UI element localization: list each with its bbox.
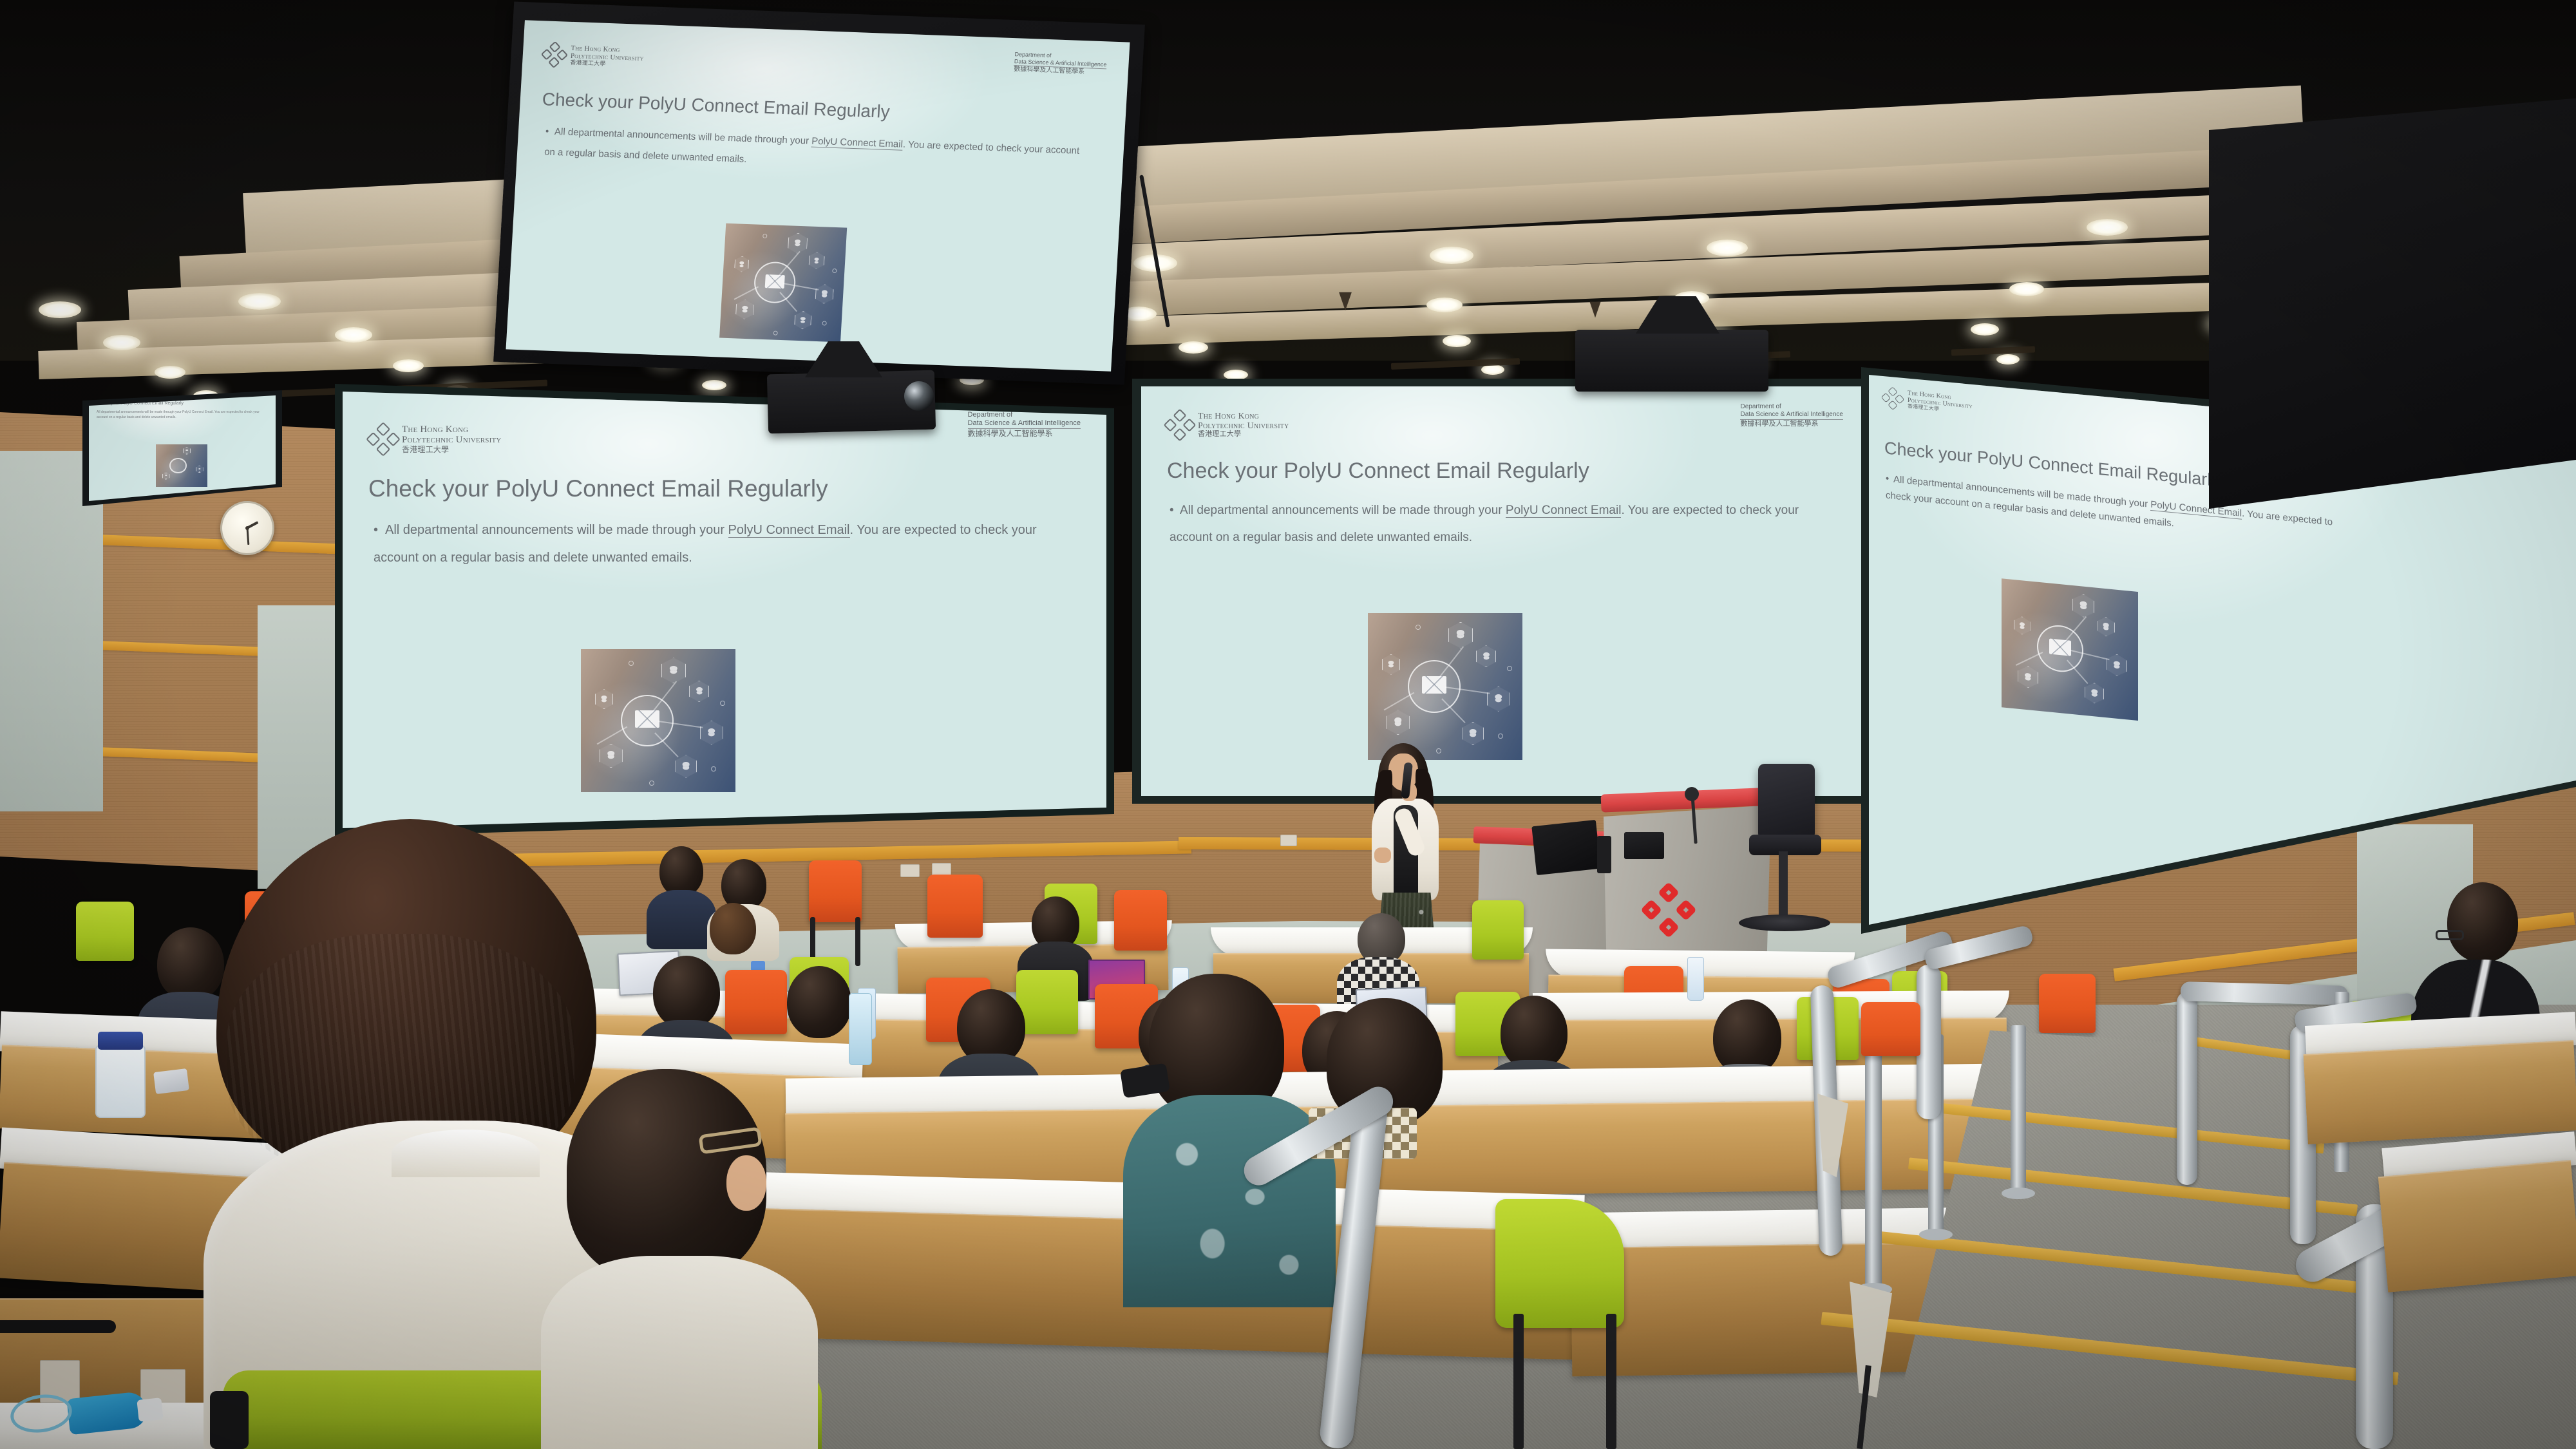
chair-leg [855, 917, 860, 966]
chair-orange[interactable] [927, 875, 983, 938]
chair-leg [1606, 1314, 1616, 1449]
handrail-gate[interactable] [2177, 992, 2197, 1185]
corner-dark-panel [2209, 97, 2576, 509]
bullet-link: PolyU Connect Email [811, 136, 904, 151]
wall-clock [220, 501, 274, 555]
polyu-logo-line3: 香港理工大學 [1198, 431, 1289, 439]
department-logo: Department of Data Science & Artificial … [1740, 403, 1843, 428]
water-bottle[interactable] [1687, 957, 1704, 1001]
email-network-graphic [719, 223, 847, 343]
audience-glasses [2436, 930, 2464, 940]
downlight [1430, 247, 1473, 264]
chair-green[interactable] [1495, 1199, 1624, 1328]
bullet-pre: All departmental announcements will be m… [554, 126, 812, 147]
downlight [335, 327, 372, 343]
polyu-logo-line2: Polytechnic University [402, 435, 502, 446]
overhead-tv-display: The Hong Kong Polytechnic University 香港理… [506, 20, 1130, 372]
lecture-hall-scene: The Hong Kong Polytechnic University 香港理… [0, 0, 2576, 1449]
handrail-foot [2002, 1188, 2035, 1199]
ceiling-speaker-cone [1589, 302, 1600, 318]
lectern-monitor [1531, 820, 1600, 875]
water-bottle[interactable] [95, 1045, 146, 1118]
audience-head [787, 966, 851, 1038]
downlight [1996, 354, 2020, 365]
email-network-graphic [1368, 613, 1522, 760]
left-projection-screen: The Hong Kong Polytechnic University 香港理… [343, 392, 1106, 828]
hand-sanitizer-cap [137, 1397, 163, 1422]
downlight [1426, 298, 1463, 312]
dept-logo-line2: Data Science & Artificial Intelligence [1740, 411, 1843, 420]
polyu-university-logo: The Hong Kong Polytechnic University 香港理… [371, 425, 502, 453]
downlight [103, 335, 140, 350]
slide-bullet-text: •All departmental announcements will be … [374, 516, 1056, 572]
slide-title: Check your PolyU Connect Email Regularly [368, 475, 828, 502]
handrail-post [2011, 1025, 2026, 1193]
document-camera [1597, 836, 1611, 873]
downlight [1971, 323, 1999, 336]
foreground-person-shirt [541, 1256, 818, 1449]
chair-orange[interactable] [725, 970, 787, 1034]
audience-head [659, 846, 703, 896]
chair-orange[interactable] [1861, 1002, 1920, 1056]
dept-logo-line3: 數據科學及人工智能學系 [1740, 420, 1843, 428]
polyu-university-logo: The Hong Kong Polytechnic University 香港理… [1884, 388, 1973, 415]
office-chair-column [1779, 851, 1788, 921]
foreground-person-collar [392, 1130, 540, 1177]
office-chair-back[interactable] [1758, 764, 1815, 840]
downlight [2009, 282, 2044, 296]
chair-orange[interactable] [809, 860, 862, 922]
ceiling-projector [1575, 330, 1768, 392]
audience-head [653, 956, 720, 1029]
polyu-logo-line3: 香港理工大學 [402, 446, 502, 454]
office-chair-base [1739, 914, 1830, 931]
power-outlet-wall [1280, 835, 1297, 846]
chair-green[interactable] [1016, 970, 1078, 1034]
dept-logo-line3: 數據科學及人工智能學系 [968, 429, 1081, 438]
slide-bullet-text: •All departmental announcements will be … [1170, 497, 1826, 551]
downlight [1179, 341, 1208, 354]
handrail-foot [1919, 1229, 1953, 1240]
presenter-hand-right [1374, 848, 1391, 863]
slide-title: Check your PolyU Connect Email Regularly [542, 89, 891, 122]
water-bottle-teal[interactable] [849, 993, 872, 1065]
downlight [1443, 335, 1471, 347]
downlight [1481, 365, 1504, 375]
audience-head [710, 903, 756, 954]
center-projection-screen: The Hong Kong Polytechnic University 香港理… [1141, 386, 1870, 796]
right-aisle-desk-panel [2304, 1040, 2576, 1144]
water-bottle-cap [98, 1032, 143, 1050]
department-logo: Department of Data Science & Artificial … [968, 411, 1081, 438]
audience-head [157, 927, 224, 1001]
email-network-graphic [581, 649, 735, 792]
polyu-logo-line1: The Hong Kong [1198, 412, 1289, 422]
handrail-post [1865, 1043, 1882, 1288]
audience-torso [647, 890, 716, 949]
bullet-link: PolyU Connect Email [728, 523, 850, 538]
chair-green[interactable] [1472, 900, 1524, 960]
slide-bullet-text: •All departmental announcements will be … [544, 121, 1086, 182]
chair-orange[interactable] [2039, 974, 2096, 1033]
downlight [1707, 240, 1748, 256]
polyu-university-logo: The Hong Kong Polytechnic University 香港理… [1168, 412, 1289, 439]
bullet-link: PolyU Connect Email [1506, 504, 1622, 518]
foreground-person-ear [726, 1155, 766, 1211]
email-network-graphic [156, 444, 207, 487]
foreground-chair-frame [210, 1391, 249, 1449]
ceiling-speaker-cone [1339, 292, 1352, 311]
audience-head [2447, 882, 2518, 962]
power-outlet-wall [900, 864, 920, 877]
polyu-logo-line1: The Hong Kong [402, 425, 502, 435]
wall-monitor-bullet: All departmental announcements will be m… [97, 410, 268, 420]
clock-minute-hand [247, 528, 250, 545]
chair-orange[interactable] [1114, 890, 1167, 951]
right-aisle-desk-panel [2378, 1160, 2576, 1292]
downlight [155, 366, 185, 379]
microphone-head [1685, 787, 1699, 801]
bullet-pre: All departmental announcements will be m… [385, 523, 728, 537]
bullet-pre: All departmental announcements will be m… [1180, 504, 1506, 517]
chair-leg [1513, 1314, 1524, 1449]
desk-gooseneck-lamp [0, 1320, 116, 1333]
dept-logo-line1: Department of [1740, 403, 1843, 411]
downlight [393, 359, 424, 372]
phone-on-desk[interactable] [153, 1068, 189, 1094]
lectern-control-panel[interactable] [1624, 832, 1664, 859]
chair-green[interactable] [76, 902, 134, 961]
downlight [2087, 219, 2128, 236]
polyu-university-logo: The Hong Kong Polytechnic University 香港理… [544, 44, 645, 68]
downlight [238, 293, 281, 310]
department-logo: Department of Data Science & Artificial … [1014, 51, 1108, 77]
wall-monitor-display: Check your PolyU Connect Email Regularly… [89, 395, 276, 501]
audience-head [1501, 996, 1567, 1070]
downlight [702, 380, 726, 390]
email-network-graphic [2002, 578, 2138, 721]
slide-title: Check your PolyU Connect Email Regularly [1167, 459, 1589, 484]
downlight [39, 301, 81, 318]
dept-logo-line2: Data Science & Artificial Intelligence [968, 419, 1081, 429]
power-outlet-wall [932, 863, 951, 876]
